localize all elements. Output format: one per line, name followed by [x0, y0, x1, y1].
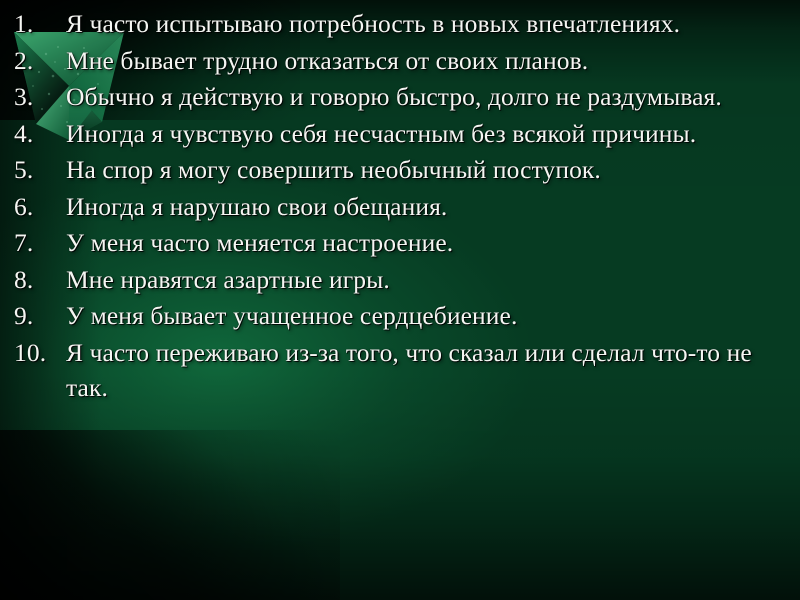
list-item: 10. Я часто переживаю из-за того, что ск…: [10, 335, 788, 406]
list-item-text: На спор я могу совершить необычный посту…: [66, 152, 788, 188]
list-item-number: 7.: [10, 225, 66, 261]
list-item-text: Мне бывает трудно отказаться от своих пл…: [66, 43, 788, 79]
list-item: 5. На спор я могу совершить необычный по…: [10, 152, 788, 188]
list-item: 6. Иногда я нарушаю свои обещания.: [10, 189, 788, 225]
list-item-text: Обычно я действую и говорю быстро, долго…: [66, 79, 788, 115]
list-item: 2. Мне бывает трудно отказаться от своих…: [10, 43, 788, 79]
list-item-number: 9.: [10, 298, 66, 334]
list-item: 3. Обычно я действую и говорю быстро, до…: [10, 79, 788, 115]
list-item-number: 4.: [10, 116, 66, 152]
list-item-text: У меня бывает учащенное сердцебиение.: [66, 298, 788, 334]
list-item-number: 5.: [10, 152, 66, 188]
slide-content: 1. Я часто испытываю потребность в новых…: [0, 0, 800, 600]
list-item-number: 3.: [10, 79, 66, 115]
list-item-text: Я часто переживаю из-за того, что сказал…: [66, 335, 788, 406]
list-item-text: У меня часто меняется настроение.: [66, 225, 788, 261]
list-item-number: 6.: [10, 189, 66, 225]
list-item-text: Я часто испытываю потребность в новых вп…: [66, 6, 788, 42]
list-item: 7. У меня часто меняется настроение.: [10, 225, 788, 261]
list-item-number: 2.: [10, 43, 66, 79]
list-item: 9. У меня бывает учащенное сердцебиение.: [10, 298, 788, 334]
list-item-text: Мне нравятся азартные игры.: [66, 262, 788, 298]
list-item-text: Иногда я нарушаю свои обещания.: [66, 189, 788, 225]
presentation-slide: 1. Я часто испытываю потребность в новых…: [0, 0, 800, 600]
list-item-number: 8.: [10, 262, 66, 298]
list-item-text: Иногда я чувствую себя несчастным без вс…: [66, 116, 788, 152]
list-item: 4. Иногда я чувствую себя несчастным без…: [10, 116, 788, 152]
list-item-number: 1.: [10, 6, 66, 42]
list-item: 8. Мне нравятся азартные игры.: [10, 262, 788, 298]
list-item-number: 10.: [10, 335, 66, 371]
question-list: 1. Я часто испытываю потребность в новых…: [10, 6, 788, 406]
list-item: 1. Я часто испытываю потребность в новых…: [10, 6, 788, 42]
